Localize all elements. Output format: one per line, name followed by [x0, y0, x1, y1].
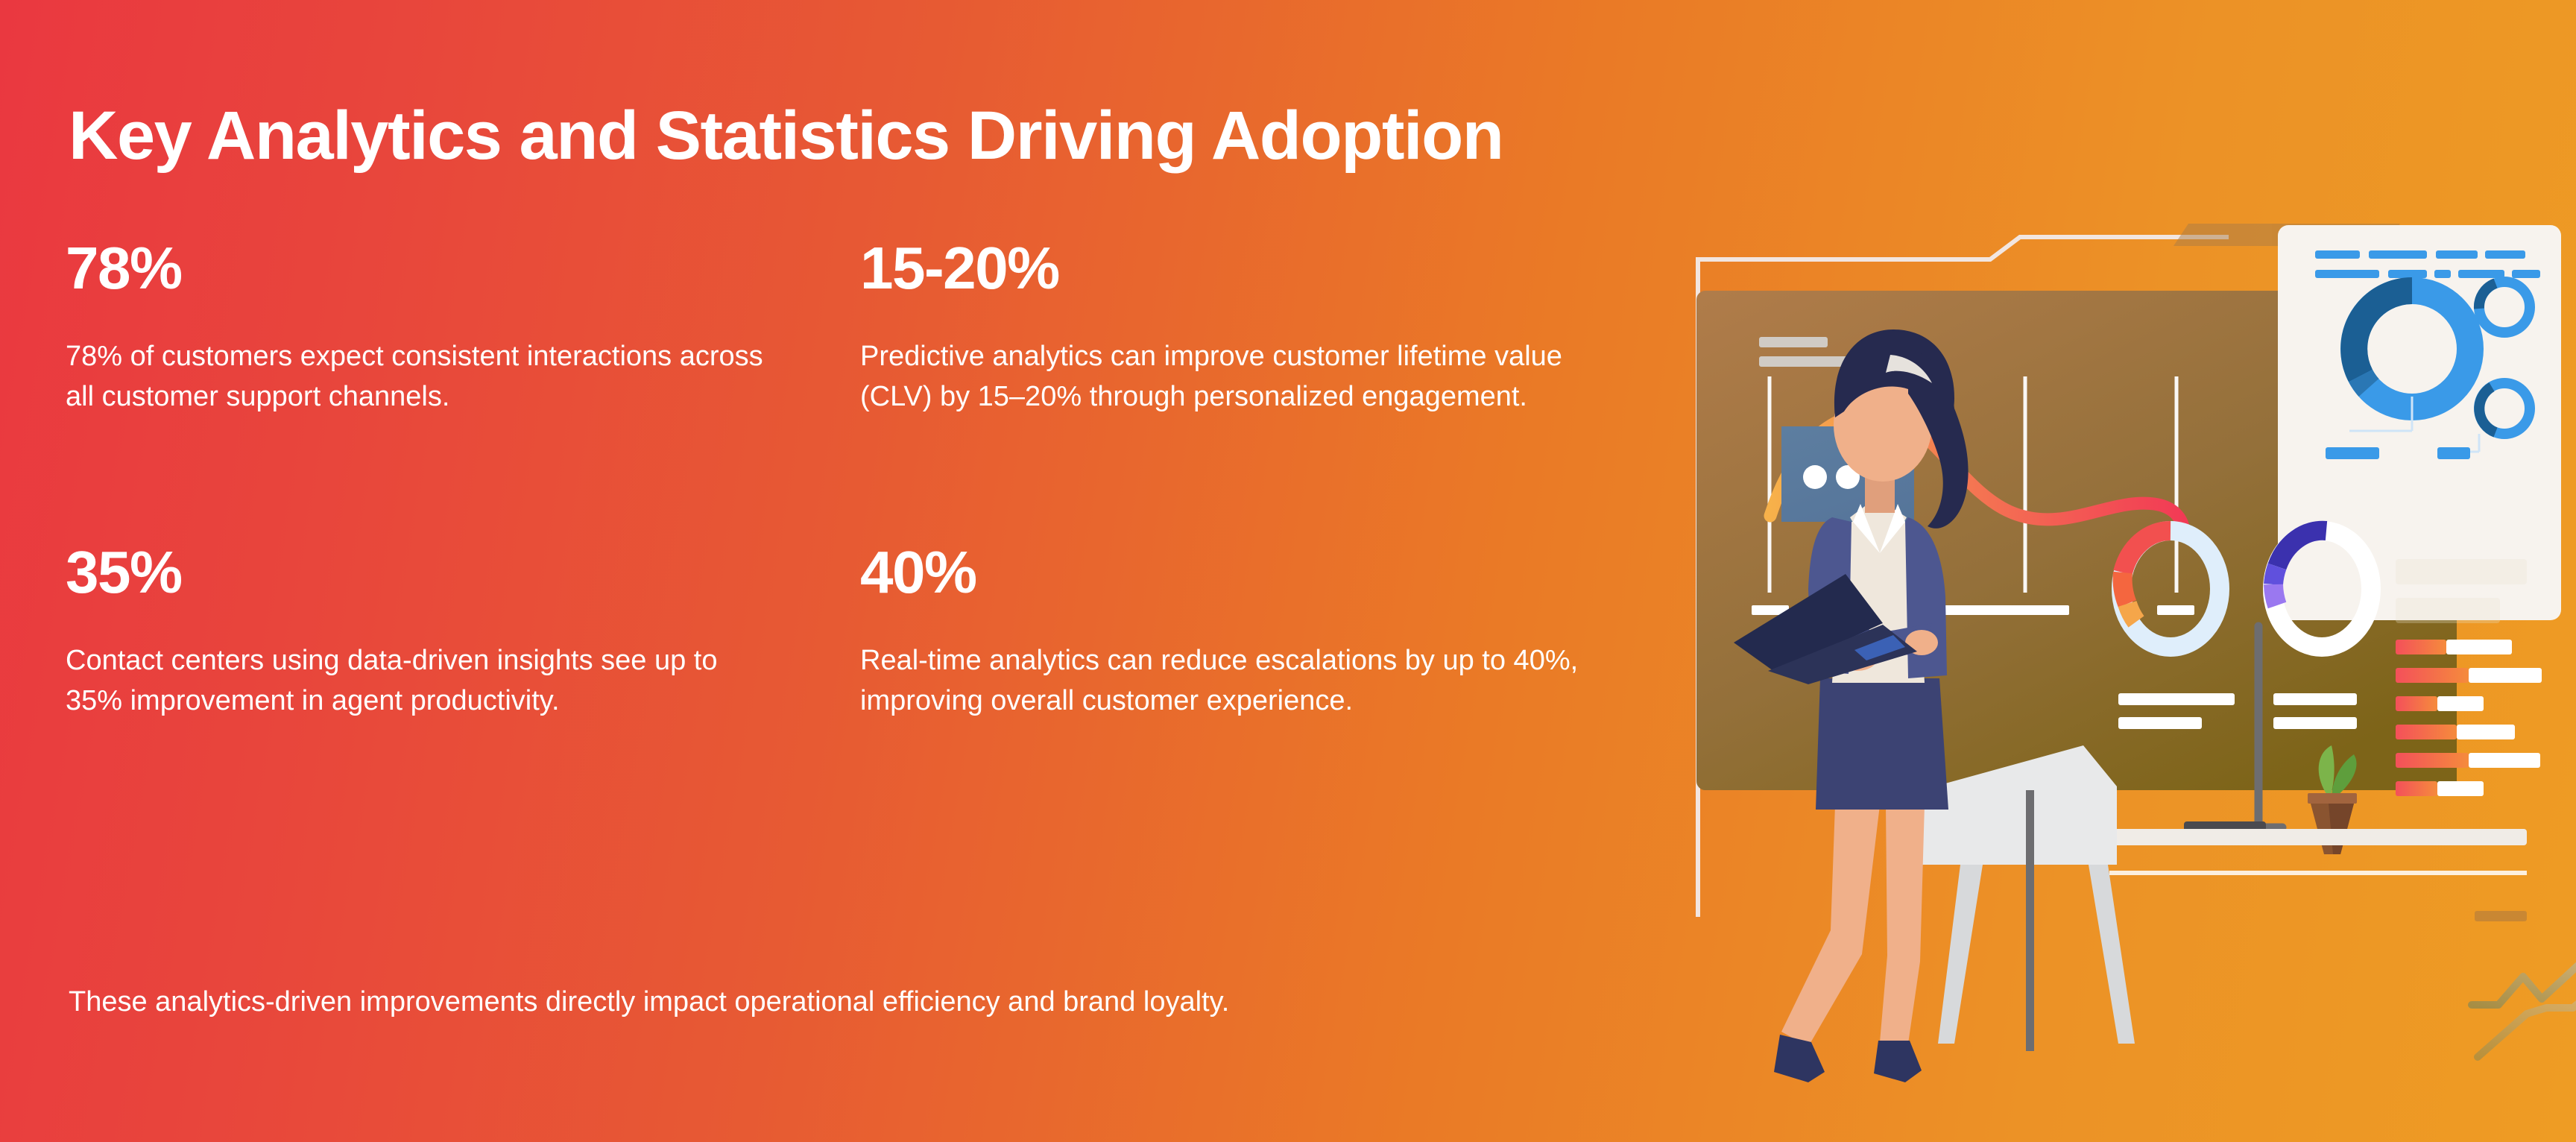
page-title: Key Analytics and Statistics Driving Ado…	[69, 100, 1746, 172]
stat-description: Contact centers using data-driven insigh…	[66, 641, 781, 722]
stat-value: 15-20%	[860, 239, 1601, 298]
stat-value: 78%	[66, 239, 833, 298]
stat-card-40: 40% Real-time analytics can reduce escal…	[833, 543, 1601, 722]
infographic-slide: Key Analytics and Statistics Driving Ado…	[0, 0, 2576, 1142]
desk	[2109, 829, 2527, 875]
stat-card-15-20: 15-20% Predictive analytics can improve …	[833, 239, 1601, 417]
donut-legend-bar-a	[2326, 447, 2379, 459]
stat-description: Predictive analytics can improve custome…	[860, 337, 1598, 417]
stat-description: 78% of customers expect consistent inter…	[66, 337, 781, 417]
stats-row-top: 78% 78% of customers expect consistent i…	[66, 239, 1601, 417]
desk-accent-bar	[2475, 911, 2527, 921]
trend-lines	[2472, 917, 2576, 1057]
progress-bar-row	[2396, 725, 2515, 739]
stat-value: 40%	[860, 543, 1601, 602]
stat-card-35: 35% Contact centers using data-driven in…	[66, 543, 833, 722]
stats-row-bottom: 35% Contact centers using data-driven in…	[66, 543, 1601, 722]
analytics-dashboard-illustration	[1662, 0, 2576, 1142]
progress-bar-row	[2396, 781, 2484, 796]
progress-bar-row	[2396, 668, 2542, 683]
donut-legend-bar-b	[2437, 447, 2470, 459]
progress-bar-row	[2396, 696, 2484, 711]
stat-value: 35%	[66, 543, 833, 602]
stat-description: Real-time analytics can reduce escalatio…	[860, 641, 1598, 722]
progress-bar-row	[2396, 640, 2512, 654]
footnote-text: These analytics-driven improvements dire…	[69, 982, 1229, 1022]
stat-card-78: 78% 78% of customers expect consistent i…	[66, 239, 833, 417]
stats-grid: 78% 78% of customers expect consistent i…	[66, 239, 1601, 722]
progress-bar-row	[2396, 753, 2540, 768]
